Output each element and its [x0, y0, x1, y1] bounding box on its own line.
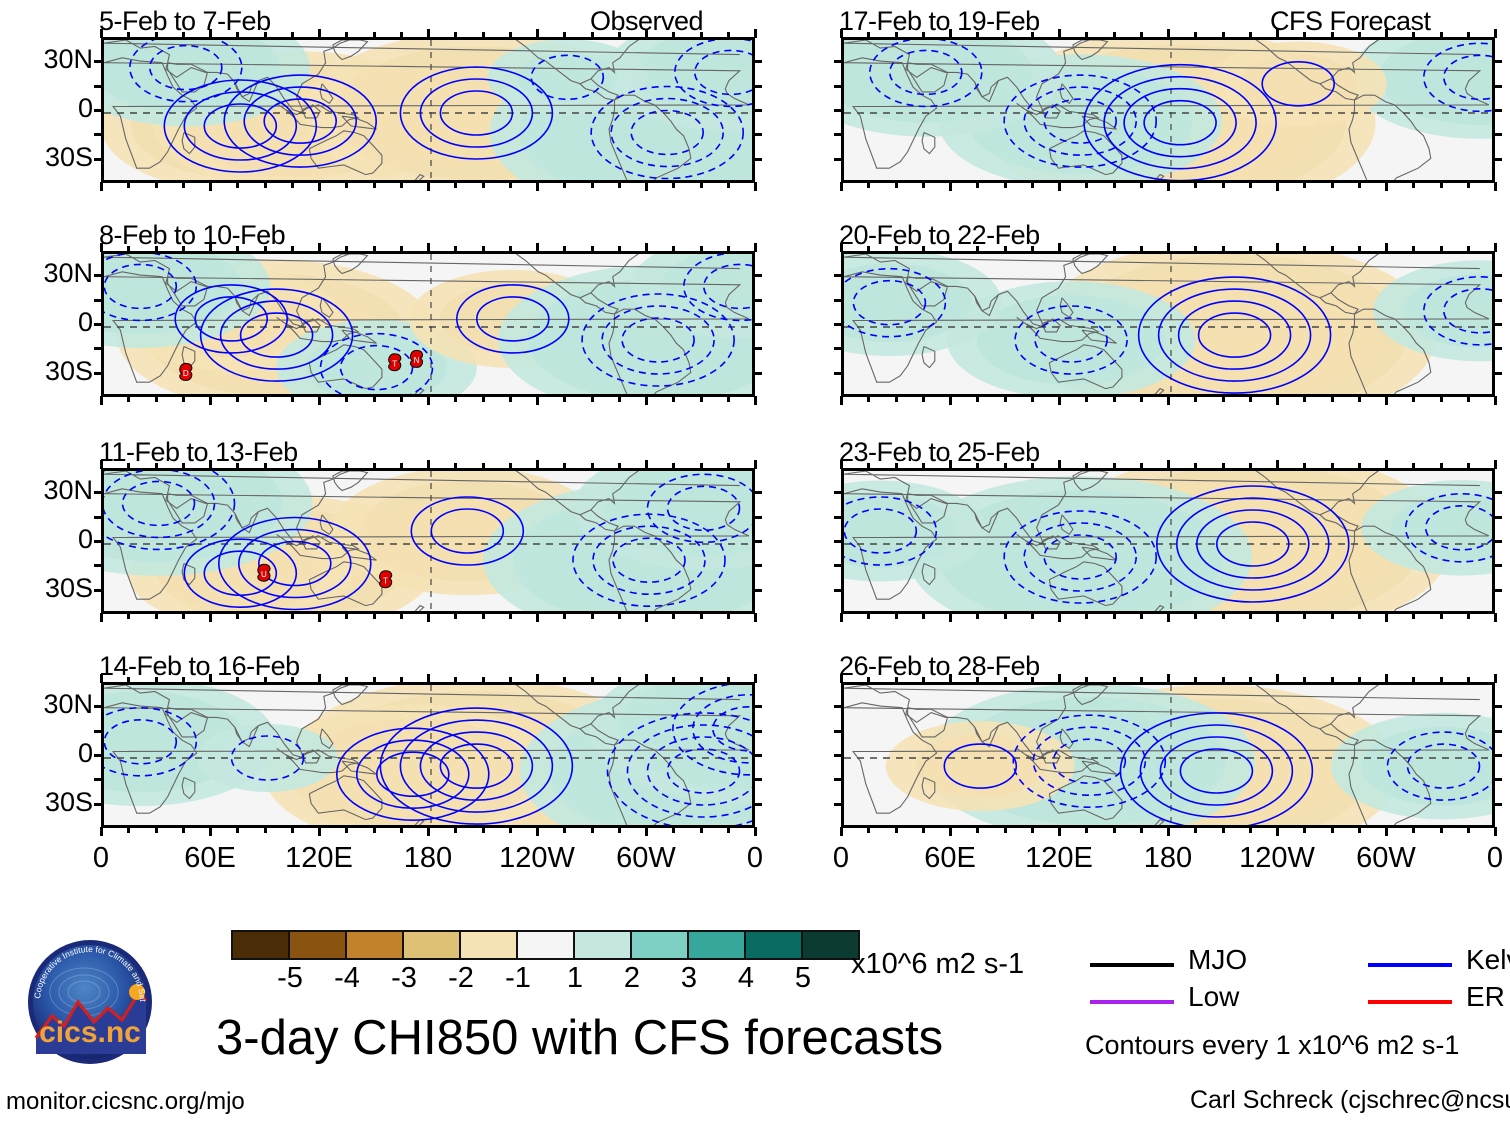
x-axis-tick	[291, 827, 294, 833]
x-axis-tick	[1303, 246, 1306, 252]
x-axis-tick	[1358, 463, 1361, 469]
x-axis-tick	[454, 246, 457, 252]
y-axis-tick	[94, 133, 102, 136]
x-axis-tick	[867, 246, 870, 252]
x-axis-tick	[373, 182, 376, 188]
x-axis-tick	[1467, 32, 1470, 38]
x-axis-tick	[1058, 396, 1061, 405]
x-axis-tick	[1140, 827, 1143, 833]
x-axis-tick	[645, 243, 648, 252]
x-axis-tick	[591, 827, 594, 833]
x-axis-label: 60E	[890, 842, 1010, 875]
x-axis-tick	[1467, 677, 1470, 683]
x-axis-tick	[264, 677, 267, 683]
x-axis-tick	[1440, 613, 1443, 619]
x-axis-tick	[867, 677, 870, 683]
x-axis-tick	[976, 182, 979, 188]
x-axis-tick	[236, 677, 239, 683]
x-axis-tick	[454, 463, 457, 469]
x-axis-tick	[700, 463, 703, 469]
map-canvas	[101, 682, 755, 828]
x-axis-tick	[645, 613, 648, 622]
y-axis-label: 30N	[3, 689, 93, 720]
y-axis-tick	[754, 133, 762, 136]
x-axis-tick	[1303, 677, 1306, 683]
x-axis-tick	[536, 827, 539, 836]
x-axis-tick	[672, 677, 675, 683]
x-axis-tick	[1276, 613, 1279, 622]
x-axis-tick	[427, 613, 430, 622]
x-axis-tick	[563, 246, 566, 252]
x-axis-tick	[1440, 463, 1443, 469]
x-axis-tick	[591, 182, 594, 188]
x-axis-tick	[1467, 613, 1470, 619]
x-axis-tick	[867, 827, 870, 833]
x-axis-tick	[155, 463, 158, 469]
x-axis-label: 120E	[259, 842, 379, 875]
y-axis-label: 0	[3, 524, 93, 555]
x-axis-tick	[1385, 396, 1388, 405]
x-axis-tick	[1467, 396, 1470, 402]
x-axis-tick	[1194, 396, 1197, 402]
x-axis-tick	[672, 396, 675, 402]
y-axis-tick	[94, 589, 102, 592]
x-axis-tick	[591, 32, 594, 38]
x-axis-tick	[1085, 827, 1088, 833]
x-axis-tick	[318, 613, 321, 622]
x-axis-tick	[373, 827, 376, 833]
x-axis-tick	[1440, 827, 1443, 833]
x-axis-tick	[536, 674, 539, 683]
x-axis-tick	[1494, 613, 1497, 622]
y-axis-label: 30S	[3, 787, 93, 818]
map-canvas	[101, 37, 755, 183]
x-axis-tick	[1222, 32, 1225, 38]
x-axis-tick	[1140, 396, 1143, 402]
x-axis-tick	[1276, 243, 1279, 252]
x-axis-tick	[1385, 613, 1388, 622]
y-axis-label: 0	[3, 738, 93, 769]
x-axis-tick	[1004, 182, 1007, 188]
colorbar-swatch-1	[290, 932, 347, 958]
x-axis-tick	[1467, 827, 1470, 833]
x-axis-tick	[1303, 463, 1306, 469]
x-axis-tick	[1004, 677, 1007, 683]
x-axis-tick	[1276, 29, 1279, 38]
x-axis-tick	[1113, 32, 1116, 38]
x-axis-tick	[563, 32, 566, 38]
x-axis-tick	[209, 827, 212, 836]
x-axis-tick	[1222, 396, 1225, 402]
x-axis-tick	[922, 396, 925, 402]
y-axis-tick	[834, 347, 842, 350]
x-axis-tick	[922, 32, 925, 38]
x-axis-tick	[867, 463, 870, 469]
y-axis-tick	[1494, 85, 1502, 88]
x-axis-tick	[155, 677, 158, 683]
x-axis-tick	[291, 246, 294, 252]
x-axis-tick	[1004, 32, 1007, 38]
x-axis-tick	[1276, 182, 1279, 191]
x-axis-tick	[1249, 246, 1252, 252]
x-axis-tick	[400, 396, 403, 402]
x-axis-tick	[1358, 613, 1361, 619]
x-axis-tick	[373, 677, 376, 683]
x-axis-tick	[922, 677, 925, 683]
x-axis-tick	[1167, 29, 1170, 38]
x-axis-tick	[1331, 32, 1334, 38]
x-axis-tick	[645, 827, 648, 836]
x-axis-tick	[155, 827, 158, 833]
x-axis-tick	[563, 677, 566, 683]
x-axis-tick	[482, 182, 485, 188]
y-axis-label: 0	[3, 93, 93, 124]
x-axis-tick	[840, 396, 843, 405]
x-axis-tick	[727, 396, 730, 402]
x-axis-tick	[1249, 396, 1252, 402]
x-axis-tick	[427, 674, 430, 683]
x-axis-tick	[645, 460, 648, 469]
x-axis-tick	[345, 613, 348, 619]
x-axis-tick	[100, 827, 103, 836]
x-axis-tick	[291, 463, 294, 469]
x-axis-tick	[209, 674, 212, 683]
x-axis-label: 120W	[1217, 842, 1337, 875]
y-axis-tick	[1494, 158, 1502, 161]
y-axis-tick	[754, 516, 762, 519]
x-axis-tick	[1358, 396, 1361, 402]
colorbar-tick-label: 1	[545, 962, 605, 995]
x-axis-tick	[373, 396, 376, 402]
legend-line-mjo	[1090, 963, 1174, 967]
colorbar-swatch-6	[575, 932, 632, 958]
x-axis-tick	[867, 182, 870, 188]
y-axis-tick	[754, 778, 762, 781]
x-axis-tick	[1222, 677, 1225, 683]
x-axis-tick	[1167, 827, 1170, 836]
x-axis-tick	[427, 243, 430, 252]
x-axis-tick	[949, 243, 952, 252]
x-axis-label: 60W	[1326, 842, 1446, 875]
x-axis-label: 120W	[477, 842, 597, 875]
x-axis-tick	[1331, 827, 1334, 833]
legend-label: Kelvin x2	[1466, 944, 1510, 976]
x-axis-tick	[895, 463, 898, 469]
x-axis-tick	[895, 32, 898, 38]
x-axis-tick	[1140, 182, 1143, 188]
y-axis-tick	[1494, 803, 1502, 806]
x-axis-tick	[1303, 827, 1306, 833]
x-axis-tick	[949, 460, 952, 469]
x-axis-tick	[672, 182, 675, 188]
y-axis-tick	[754, 705, 762, 708]
colorbar-swatch-8	[689, 932, 746, 958]
x-axis-tick	[100, 396, 103, 405]
x-axis-tick	[1249, 827, 1252, 833]
colorbar-tick-label: -2	[431, 962, 491, 995]
x-axis-tick	[345, 396, 348, 402]
y-axis-tick	[1494, 589, 1502, 592]
y-axis-tick	[754, 372, 762, 375]
x-axis-tick	[373, 613, 376, 619]
x-axis-tick	[976, 677, 979, 683]
x-axis-tick	[618, 463, 621, 469]
x-axis-tick	[345, 827, 348, 833]
x-axis-tick	[127, 396, 130, 402]
x-axis-tick	[645, 674, 648, 683]
x-axis-tick	[400, 613, 403, 619]
x-axis-tick	[1331, 613, 1334, 619]
x-axis-tick	[867, 396, 870, 402]
y-axis-tick	[94, 274, 102, 277]
colorbar	[231, 930, 860, 960]
x-axis-tick	[264, 182, 267, 188]
x-axis-tick	[1031, 396, 1034, 402]
x-axis-tick	[1194, 677, 1197, 683]
y-axis-label: 30S	[3, 356, 93, 387]
x-axis-tick	[1222, 182, 1225, 188]
x-axis-label: 0	[1435, 842, 1510, 875]
x-axis-tick	[645, 29, 648, 38]
x-axis-tick	[976, 396, 979, 402]
x-axis-tick	[1058, 182, 1061, 191]
main-title: 3-day CHI850 with CFS forecasts	[216, 1010, 943, 1066]
y-axis-label: 30N	[3, 258, 93, 289]
x-axis-tick	[209, 182, 212, 191]
colorbar-tick-label: -5	[260, 962, 320, 995]
x-axis-tick	[1494, 460, 1497, 469]
x-axis-tick	[236, 182, 239, 188]
x-axis-tick	[700, 827, 703, 833]
x-axis-tick	[672, 32, 675, 38]
y-axis-tick	[834, 323, 842, 326]
svg-text:T: T	[383, 576, 388, 585]
y-axis-tick	[834, 589, 842, 592]
x-axis-tick	[509, 182, 512, 188]
map-canvas	[841, 37, 1495, 183]
x-axis-tick	[427, 396, 430, 405]
x-axis-tick	[1331, 182, 1334, 188]
y-axis-tick	[1494, 730, 1502, 733]
x-axis-tick	[1058, 613, 1061, 622]
x-axis-tick	[1467, 182, 1470, 188]
x-axis-tick	[182, 613, 185, 619]
x-axis-tick	[182, 677, 185, 683]
x-axis-label: 120E	[999, 842, 1119, 875]
x-axis-tick	[563, 613, 566, 619]
x-axis-tick	[291, 32, 294, 38]
x-axis-tick	[895, 613, 898, 619]
x-axis-tick	[1358, 246, 1361, 252]
x-axis-tick	[1358, 182, 1361, 188]
x-axis-tick	[563, 396, 566, 402]
x-axis-tick	[840, 827, 843, 836]
x-axis-tick	[1222, 827, 1225, 833]
colorbar-swatch-0	[233, 932, 290, 958]
x-axis-tick	[209, 460, 212, 469]
x-axis-tick	[1031, 182, 1034, 188]
x-axis-tick	[591, 396, 594, 402]
x-axis-label: 0	[41, 842, 161, 875]
x-axis-tick	[373, 32, 376, 38]
x-axis-tick	[1085, 613, 1088, 619]
x-axis-tick	[1331, 396, 1334, 402]
x-axis-tick	[1412, 182, 1415, 188]
x-axis-tick	[754, 613, 757, 622]
x-axis-tick	[127, 827, 130, 833]
x-axis-tick	[400, 32, 403, 38]
y-axis-tick	[834, 730, 842, 733]
author-credit: Carl Schreck (cjschrec@ncsu.edu)	[1190, 1086, 1510, 1115]
x-axis-tick	[867, 613, 870, 619]
x-axis-tick	[1276, 396, 1279, 405]
y-axis-tick	[1494, 60, 1502, 63]
column-header: CFS Forecast	[1270, 6, 1431, 37]
x-axis-tick	[922, 182, 925, 188]
x-axis-tick	[509, 613, 512, 619]
site-url: monitor.cicsnc.org/mjo	[6, 1088, 245, 1116]
legend-label: MJO	[1188, 944, 1247, 976]
x-axis-tick	[264, 246, 267, 252]
x-axis-tick	[1385, 243, 1388, 252]
y-axis-tick	[94, 730, 102, 733]
x-axis-tick	[1358, 827, 1361, 833]
y-axis-tick	[1494, 705, 1502, 708]
x-axis-tick	[454, 613, 457, 619]
x-axis-tick	[1249, 463, 1252, 469]
x-axis-tick	[127, 182, 130, 188]
x-axis-tick	[949, 613, 952, 622]
y-axis-label: 30S	[3, 573, 93, 604]
x-axis-tick	[1004, 463, 1007, 469]
x-axis-tick	[700, 182, 703, 188]
x-axis-tick	[127, 32, 130, 38]
y-axis-tick	[754, 274, 762, 277]
x-axis-tick	[236, 396, 239, 402]
x-axis-tick	[1303, 396, 1306, 402]
x-axis-tick	[127, 677, 130, 683]
x-axis-tick	[1331, 463, 1334, 469]
x-axis-tick	[895, 396, 898, 402]
x-axis-tick	[949, 396, 952, 405]
x-axis-tick	[1358, 32, 1361, 38]
x-axis-tick	[1194, 182, 1197, 188]
x-axis-tick	[482, 827, 485, 833]
y-axis-tick	[94, 491, 102, 494]
x-axis-tick	[976, 32, 979, 38]
x-axis-tick	[373, 463, 376, 469]
x-axis-tick	[182, 396, 185, 402]
x-axis-tick	[922, 613, 925, 619]
x-axis-tick	[727, 827, 730, 833]
x-axis-tick	[536, 396, 539, 405]
x-axis-tick	[1467, 463, 1470, 469]
x-axis-tick	[618, 827, 621, 833]
x-axis-tick	[400, 463, 403, 469]
y-axis-tick	[754, 299, 762, 302]
x-axis-tick	[1194, 827, 1197, 833]
x-axis-tick	[1140, 613, 1143, 619]
cics-nc-logo: cics.nc Cooperative Institute for Climat…	[18, 930, 198, 1074]
x-axis-tick	[1113, 182, 1116, 188]
x-axis-tick	[1113, 613, 1116, 619]
x-axis-tick	[1113, 463, 1116, 469]
x-axis-tick	[1494, 827, 1497, 836]
x-axis-tick	[318, 396, 321, 405]
y-axis-tick	[834, 803, 842, 806]
x-axis-tick	[895, 182, 898, 188]
x-axis-tick	[727, 182, 730, 188]
x-axis-tick	[1440, 396, 1443, 402]
x-axis-tick	[1085, 246, 1088, 252]
x-axis-tick	[182, 463, 185, 469]
y-axis-tick	[754, 803, 762, 806]
y-axis-tick	[834, 133, 842, 136]
x-axis-tick	[1412, 827, 1415, 833]
x-axis-tick	[536, 613, 539, 622]
x-axis-tick	[427, 182, 430, 191]
x-axis-label: 0	[781, 842, 901, 875]
x-axis-tick	[291, 613, 294, 619]
y-axis-tick	[754, 589, 762, 592]
x-axis-tick	[400, 827, 403, 833]
x-axis-tick	[754, 182, 757, 191]
x-axis-tick	[1194, 246, 1197, 252]
y-axis-tick	[1494, 491, 1502, 494]
x-axis-tick	[1331, 677, 1334, 683]
x-axis-tick	[1276, 827, 1279, 836]
y-axis-tick	[94, 803, 102, 806]
x-axis-tick	[1331, 246, 1334, 252]
x-axis-tick	[1440, 246, 1443, 252]
x-axis-tick	[700, 32, 703, 38]
y-axis-tick	[94, 347, 102, 350]
colorbar-swatch-4	[461, 932, 518, 958]
x-axis-tick	[182, 246, 185, 252]
y-axis-tick	[94, 85, 102, 88]
x-axis-tick	[700, 396, 703, 402]
x-axis-tick	[1303, 613, 1306, 619]
x-axis-tick	[127, 463, 130, 469]
x-axis-tick	[1085, 396, 1088, 402]
y-axis-tick	[1494, 133, 1502, 136]
x-axis-tick	[155, 246, 158, 252]
y-axis-tick	[1494, 299, 1502, 302]
x-axis-tick	[949, 182, 952, 191]
y-axis-tick	[834, 491, 842, 494]
x-axis-tick	[700, 677, 703, 683]
x-axis-tick	[400, 677, 403, 683]
colorbar-swatch-7	[632, 932, 689, 958]
x-axis-tick	[754, 460, 757, 469]
x-axis-tick	[840, 613, 843, 622]
x-axis-tick	[1140, 463, 1143, 469]
y-axis-tick	[94, 158, 102, 161]
y-axis-tick	[1494, 372, 1502, 375]
y-axis-tick	[94, 516, 102, 519]
x-axis-tick	[482, 677, 485, 683]
colorbar-swatch-9	[746, 932, 803, 958]
y-axis-label: 0	[3, 307, 93, 338]
y-axis-tick	[834, 705, 842, 708]
contour-interval-note: Contours every 1 x10^6 m2 s-1	[1085, 1030, 1459, 1061]
x-axis-tick	[895, 246, 898, 252]
x-axis-tick	[700, 246, 703, 252]
x-axis-tick	[509, 246, 512, 252]
colorbar-swatch-2	[347, 932, 404, 958]
x-axis-tick	[345, 463, 348, 469]
x-axis-tick	[1494, 674, 1497, 683]
